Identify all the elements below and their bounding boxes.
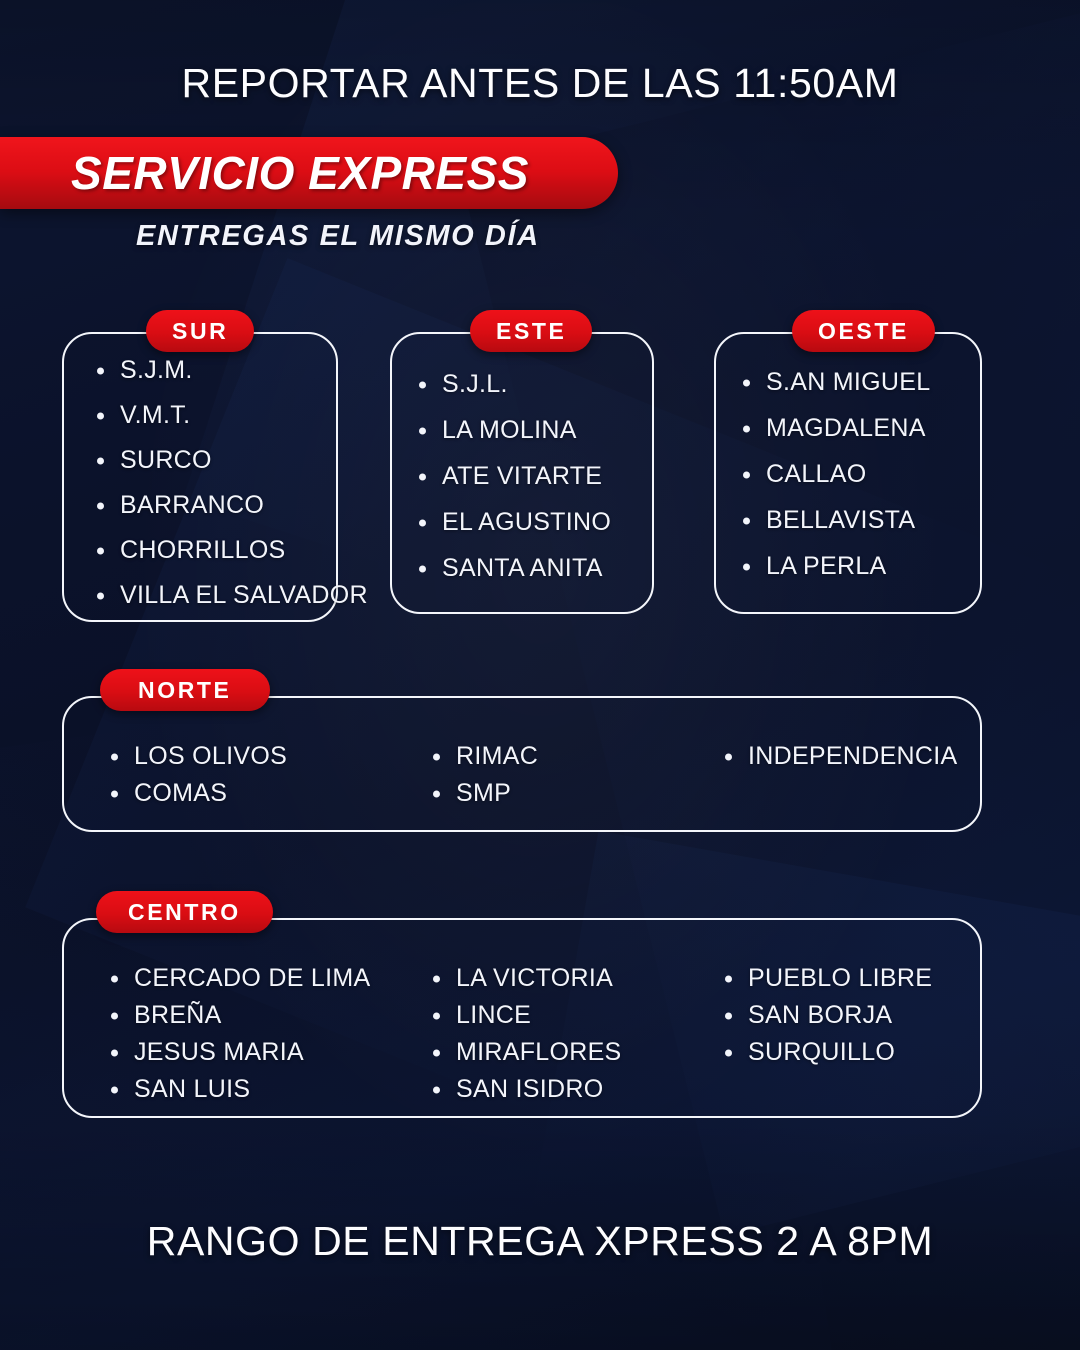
zone-badge-este: ESTE (470, 310, 592, 352)
servicio-express-banner: SERVICIO EXPRESS (0, 137, 618, 209)
list-item: RIMAC (430, 742, 722, 771)
district-column: CERCADO DE LIMA BREÑA JESUS MARIA SAN LU… (108, 964, 430, 1112)
list-item: BREÑA (108, 1001, 430, 1030)
same-day-delivery-subtitle: ENTREGAS EL MISMO DÍA (136, 220, 540, 253)
list-item: S.J.L. (416, 370, 611, 399)
list-item: LINCE (430, 1001, 722, 1030)
district-list-este: S.J.L. LA MOLINA ATE VITARTE EL AGUSTINO… (416, 370, 611, 600)
zone-badge-oeste: OESTE (792, 310, 935, 352)
list-item: MIRAFLORES (430, 1038, 722, 1067)
list-item: SAN LUIS (108, 1075, 430, 1104)
list-item: BELLAVISTA (740, 506, 930, 535)
zone-card-este: S.J.L. LA MOLINA ATE VITARTE EL AGUSTINO… (390, 332, 654, 614)
district-list-norte-col2: RIMAC SMP (430, 742, 722, 808)
district-list-sur: S.J.M. V.M.T. SURCO BARRANCO CHORRILLOS … (94, 356, 368, 626)
list-item: SANTA ANITA (416, 554, 611, 583)
list-item: S.J.M. (94, 356, 368, 385)
district-columns-norte: LOS OLIVOS COMAS RIMAC SMP INDEPENDENCIA (108, 742, 960, 816)
zone-badge-centro: CENTRO (96, 891, 273, 933)
list-item: V.M.T. (94, 401, 368, 430)
list-item: LA PERLA (740, 552, 930, 581)
zone-card-norte: LOS OLIVOS COMAS RIMAC SMP INDEPENDENCIA (62, 696, 982, 832)
list-item: S.AN MIGUEL (740, 368, 930, 397)
zone-badge-sur: SUR (146, 310, 254, 352)
district-list-oeste: S.AN MIGUEL MAGDALENA CALLAO BELLAVISTA … (740, 368, 930, 598)
district-list-norte-col1: LOS OLIVOS COMAS (108, 742, 430, 808)
list-item: LA VICTORIA (430, 964, 722, 993)
zone-badge-norte: NORTE (100, 669, 270, 711)
zone-card-sur: S.J.M. V.M.T. SURCO BARRANCO CHORRILLOS … (62, 332, 338, 622)
express-service-poster: REPORTAR ANTES DE LAS 11:50AM SERVICIO E… (0, 0, 1080, 1350)
district-column: LOS OLIVOS COMAS (108, 742, 430, 816)
list-item: ATE VITARTE (416, 462, 611, 491)
list-item: JESUS MARIA (108, 1038, 430, 1067)
deadline-headline: REPORTAR ANTES DE LAS 11:50AM (0, 60, 1080, 107)
list-item: VILLA EL SALVADOR (94, 581, 368, 610)
list-item: PUEBLO LIBRE (722, 964, 932, 993)
list-item: SURQUILLO (722, 1038, 932, 1067)
list-item: SURCO (94, 446, 368, 475)
list-item: SMP (430, 779, 722, 808)
list-item: LOS OLIVOS (108, 742, 430, 771)
district-column: PUEBLO LIBRE SAN BORJA SURQUILLO (722, 964, 932, 1112)
list-item: INDEPENDENCIA (722, 742, 958, 771)
list-item: MAGDALENA (740, 414, 930, 443)
list-item: SAN ISIDRO (430, 1075, 722, 1104)
list-item: CERCADO DE LIMA (108, 964, 430, 993)
district-list-centro-col2: LA VICTORIA LINCE MIRAFLORES SAN ISIDRO (430, 964, 722, 1104)
list-item: BARRANCO (94, 491, 368, 520)
list-item: SAN BORJA (722, 1001, 932, 1030)
district-list-centro-col1: CERCADO DE LIMA BREÑA JESUS MARIA SAN LU… (108, 964, 430, 1104)
district-list-centro-col3: PUEBLO LIBRE SAN BORJA SURQUILLO (722, 964, 932, 1067)
district-list-norte-col3: INDEPENDENCIA (722, 742, 958, 771)
list-item: COMAS (108, 779, 430, 808)
zone-card-centro: CERCADO DE LIMA BREÑA JESUS MARIA SAN LU… (62, 918, 982, 1118)
list-item: CALLAO (740, 460, 930, 489)
zone-card-oeste: S.AN MIGUEL MAGDALENA CALLAO BELLAVISTA … (714, 332, 982, 614)
district-column: LA VICTORIA LINCE MIRAFLORES SAN ISIDRO (430, 964, 722, 1112)
district-columns-centro: CERCADO DE LIMA BREÑA JESUS MARIA SAN LU… (108, 964, 960, 1112)
servicio-express-banner-label: SERVICIO EXPRESS (0, 146, 618, 200)
list-item: EL AGUSTINO (416, 508, 611, 537)
list-item: CHORRILLOS (94, 536, 368, 565)
list-item: LA MOLINA (416, 416, 611, 445)
district-column: INDEPENDENCIA (722, 742, 958, 816)
delivery-range-footer: RANGO DE ENTREGA XPRESS 2 A 8PM (0, 1218, 1080, 1265)
district-column: RIMAC SMP (430, 742, 722, 816)
